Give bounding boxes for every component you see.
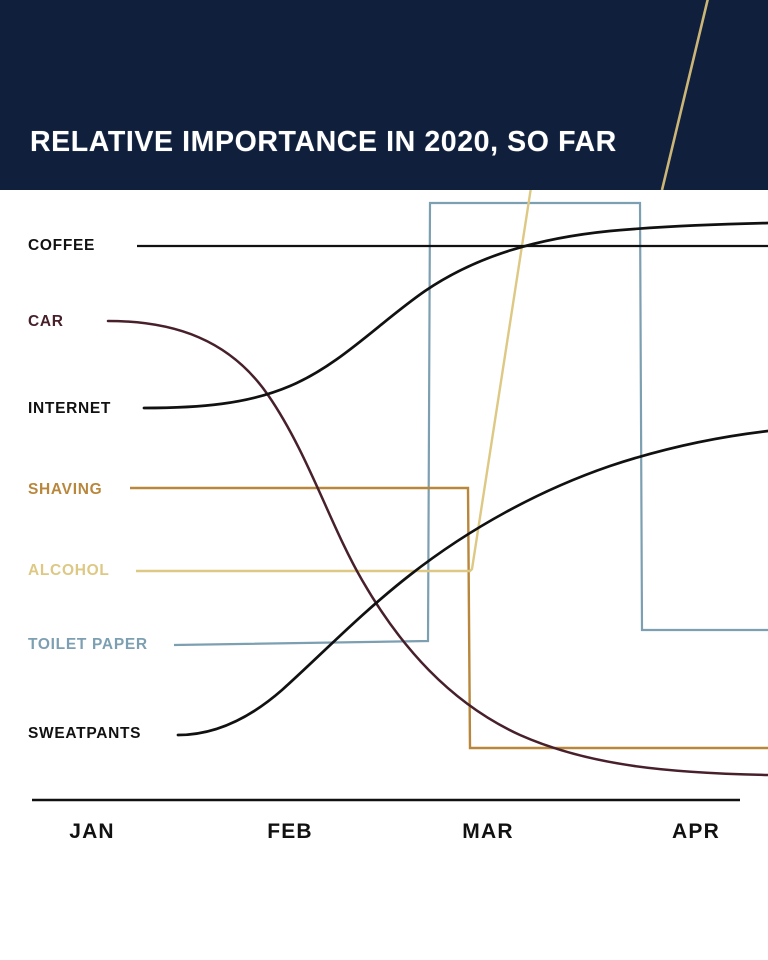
chart-lines-svg [0,190,768,960]
series-line-internet [144,223,768,408]
header-alcohol-line-svg [0,0,768,190]
series-label-alcohol: ALCOHOL [28,562,110,580]
chart-plot-area [0,190,768,960]
x-axis-label-mar: MAR [462,820,513,844]
series-label-sweatpants: SWEATPANTS [28,725,141,743]
infographic-root: COFFEE CAR INTERNET SHAVING ALCOHOL TOIL… [0,0,768,960]
series-label-coffee: COFFEE [28,237,95,255]
series-label-car: CAR [28,313,64,331]
bottom-whitespace [0,880,768,960]
x-axis-label-apr: APR [672,820,720,844]
header-banner: RELATIVE IMPORTANCE IN 2020, SO FAR [0,0,768,190]
series-label-shaving: SHAVING [28,481,102,499]
x-axis-label-jan: JAN [69,820,115,844]
series-line-toilet-paper [174,203,768,645]
series-line-car [108,321,768,775]
series-line-sweatpants [178,431,768,735]
series-line-shaving [130,488,768,748]
series-line-alcohol [136,190,560,571]
series-line-alcohol-header-segment [662,0,710,190]
series-label-internet: INTERNET [28,400,111,418]
x-axis-label-feb: FEB [267,820,313,844]
series-label-toilet-paper: TOILET PAPER [28,636,148,654]
page-title: RELATIVE IMPORTANCE IN 2020, SO FAR [30,126,617,159]
